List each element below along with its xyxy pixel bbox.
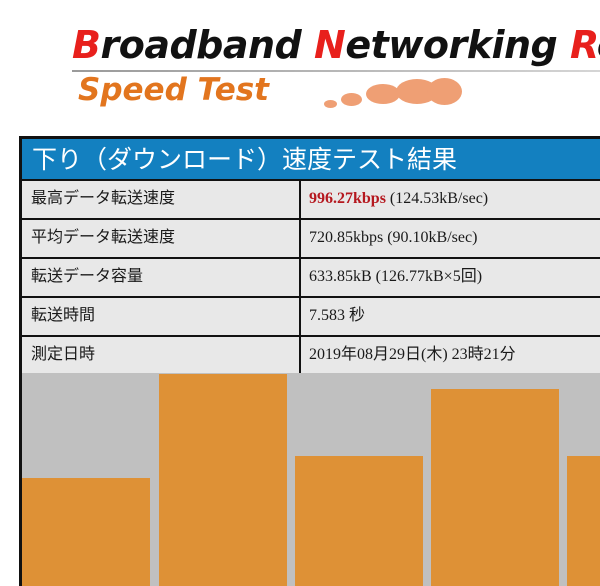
download-result-table: 下り（ダウンロード）速度テスト結果 最高データ転送速度 996.27kbps (…	[19, 136, 600, 376]
row-label-avg-speed: 平均データ転送速度	[22, 220, 301, 257]
table-title: 下り（ダウンロード）速度テスト結果	[22, 139, 600, 181]
speed-dot-1-icon	[324, 100, 337, 108]
speed-bar-chart	[19, 373, 600, 586]
brand-title-accent-n: N	[314, 23, 345, 67]
table-row: 平均データ転送速度 720.85kbps (90.10kB/sec)	[22, 220, 600, 259]
bar-5	[567, 456, 600, 586]
brand-title-accent-r: R	[570, 23, 597, 67]
bar-3	[295, 456, 423, 586]
speed-dot-5-icon	[427, 78, 462, 105]
transfer-time-rest: 7.583 秒	[309, 307, 365, 324]
row-value-transfer-time: 7.583 秒	[301, 298, 600, 335]
row-label-max-speed: 最高データ転送速度	[22, 181, 301, 218]
row-value-avg-speed: 720.85kbps (90.10kB/sec)	[301, 220, 600, 257]
speed-dot-2-icon	[341, 93, 362, 106]
brand-title-accent-b: B	[72, 23, 100, 67]
bar-chart-plot-area	[22, 373, 600, 586]
bar-2	[159, 374, 287, 586]
measured-at-rest: 2019年08月29日(木) 23時21分	[309, 346, 516, 363]
table-row: 転送時間 7.583 秒	[22, 298, 600, 337]
speed-dot-3-icon	[366, 84, 400, 104]
table-row: 測定日時 2019年08月29日(木) 23時21分	[22, 337, 600, 376]
brand-subtitle: Speed Test	[78, 75, 269, 106]
max-speed-rest: (124.53kB/sec)	[386, 190, 488, 207]
bar-4	[431, 389, 559, 586]
avg-speed-rest: 720.85kbps (90.10kB/sec)	[309, 229, 477, 246]
row-label-data-volume: 転送データ容量	[22, 259, 301, 296]
row-value-max-speed: 996.27kbps (124.53kB/sec)	[301, 181, 600, 218]
site-banner: Broadband Networking Repo Speed Test	[0, 0, 600, 130]
brand-title-rest-2: etworking	[345, 23, 570, 67]
table-row: 転送データ容量 633.85kB (126.77kB×5回)	[22, 259, 600, 298]
bar-1	[22, 478, 150, 586]
row-value-measured-at: 2019年08月29日(木) 23時21分	[301, 337, 600, 374]
max-speed-highlight: 996.27kbps	[309, 190, 386, 207]
table-row: 最高データ転送速度 996.27kbps (124.53kB/sec)	[22, 181, 600, 220]
speed-dots-decoration	[324, 78, 459, 112]
row-value-data-volume: 633.85kB (126.77kB×5回)	[301, 259, 600, 296]
brand-title-rest-1: roadband	[100, 23, 314, 67]
brand-title: Broadband Networking Repo	[72, 26, 600, 64]
row-label-transfer-time: 転送時間	[22, 298, 301, 335]
data-volume-rest: 633.85kB (126.77kB×5回)	[309, 268, 482, 285]
row-label-measured-at: 測定日時	[22, 337, 301, 374]
